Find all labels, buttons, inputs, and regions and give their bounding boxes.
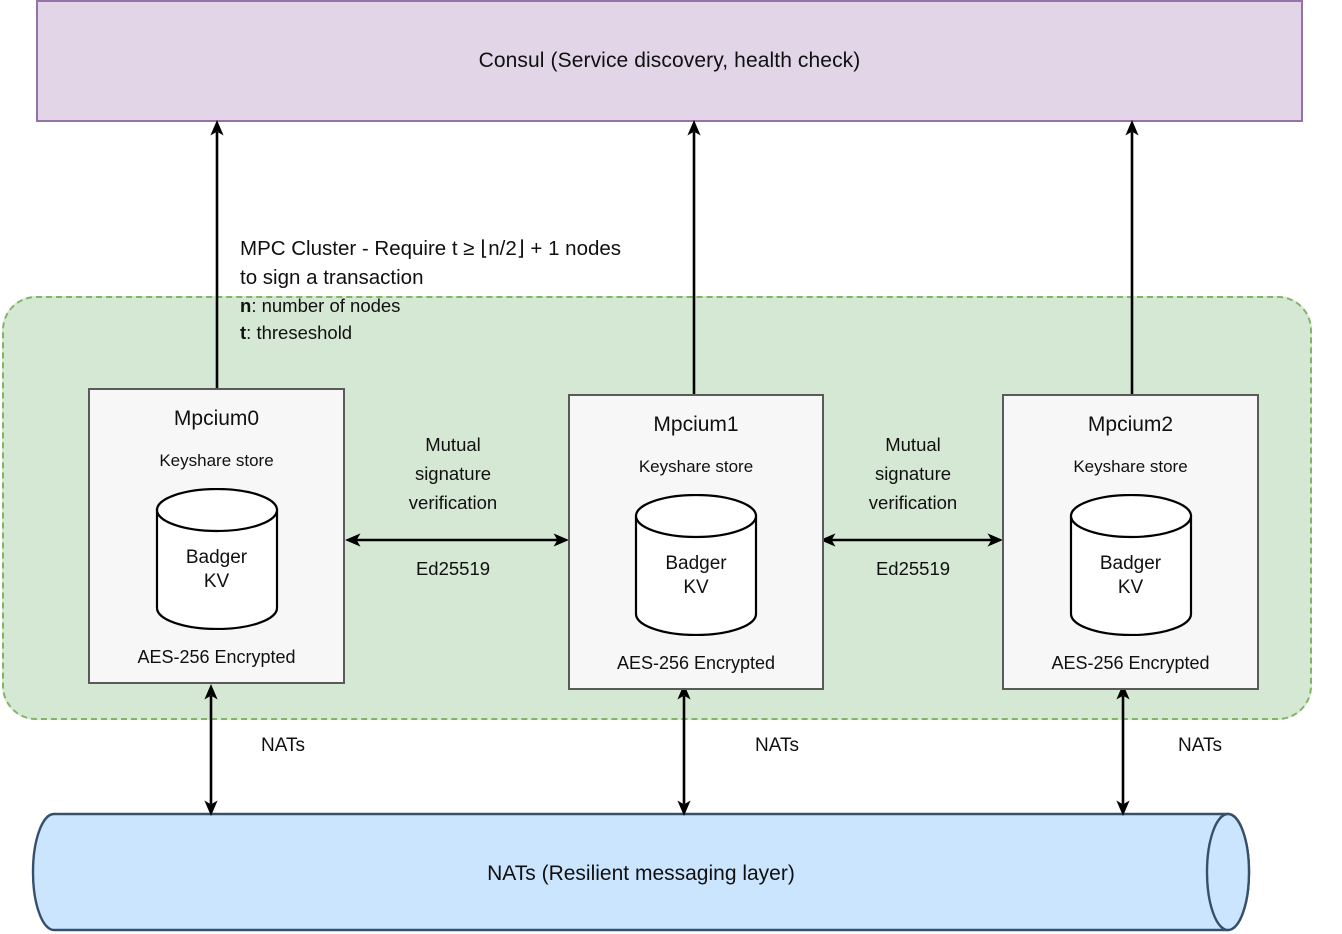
node-mpcium0-encryption: AES-256 Encrypted [90, 647, 343, 668]
cluster-legend-t: t: threseshold [240, 319, 710, 346]
nats-link-2-label: NATs [1178, 735, 1222, 757]
legend-symbol-n: n [240, 295, 251, 316]
node-mpcium2-store-label: Keyshare store [1004, 457, 1257, 477]
node-mpcium2[interactable]: Mpcium2 Keyshare store Badger KV AES-256… [1002, 394, 1259, 690]
badger-kv-cylinder-icon: Badger KV [634, 494, 758, 636]
node-mpcium0[interactable]: Mpcium0 Keyshare store Badger KV AES-256… [88, 388, 345, 684]
mpc-cluster-note: MPC Cluster - Require t ≥ ⌊n/2⌋ + 1 node… [240, 234, 710, 346]
badger-kv-cylinder-icon: Badger KV [1069, 494, 1193, 636]
peer-link-0-protocol: Ed25519 [383, 554, 523, 583]
peer-link-0-title: Mutual signature verification [383, 430, 523, 517]
peer-link-1-title-line1: Mutual [843, 430, 983, 459]
connector-mpcium1-nats [673, 682, 695, 818]
connector-mpcium0-mpcium1 [343, 528, 571, 552]
diagram-canvas: Consul (Service discovery, health check)… [0, 0, 1342, 934]
peer-link-1-protocol: Ed25519 [843, 554, 983, 583]
node-mpcium1-encryption: AES-256 Encrypted [570, 653, 822, 674]
consul-box[interactable]: Consul (Service discovery, health check) [36, 0, 1303, 122]
node-mpcium1-store-label: Keyshare store [570, 457, 822, 477]
connector-mpcium2-consul [1121, 118, 1143, 396]
cluster-legend-n: n: number of nodes [240, 292, 710, 319]
legend-text-t: : threseshold [246, 322, 352, 343]
nats-link-0-label: NATs [261, 735, 305, 757]
cluster-note-line2: to sign a transaction [240, 263, 710, 292]
connector-mpcium0-nats [200, 682, 222, 818]
cluster-note-line1: MPC Cluster - Require t ≥ ⌊n/2⌋ + 1 node… [240, 234, 710, 263]
consul-label: Consul (Service discovery, health check) [479, 49, 861, 73]
node-mpcium1[interactable]: Mpcium1 Keyshare store Badger KV AES-256… [568, 394, 824, 690]
nats-messaging-layer[interactable]: NATs (Resilient messaging layer) [52, 812, 1270, 932]
node-mpcium1-title: Mpcium1 [570, 413, 822, 437]
peer-link-0-title-line1: Mutual [383, 430, 523, 459]
legend-text-n: : number of nodes [251, 295, 400, 316]
peer-link-0-title-line3: verification [383, 488, 523, 517]
peer-link-1-title: Mutual signature verification [843, 430, 983, 517]
node-mpcium2-title: Mpcium2 [1004, 413, 1257, 437]
peer-link-1-title-line2: signature [843, 459, 983, 488]
node-mpcium0-store-label: Keyshare store [90, 451, 343, 471]
connector-mpcium2-nats [1112, 682, 1134, 818]
badger-kv-cylinder-icon: Badger KV [155, 488, 279, 630]
peer-link-1-title-line3: verification [843, 488, 983, 517]
nats-link-1-label: NATs [755, 735, 799, 757]
node-mpcium0-title: Mpcium0 [90, 407, 343, 431]
connector-mpcium0-consul [206, 118, 228, 390]
connector-mpcium1-mpcium2 [818, 528, 1005, 552]
peer-link-0-title-line2: signature [383, 459, 523, 488]
node-mpcium2-encryption: AES-256 Encrypted [1004, 653, 1257, 674]
